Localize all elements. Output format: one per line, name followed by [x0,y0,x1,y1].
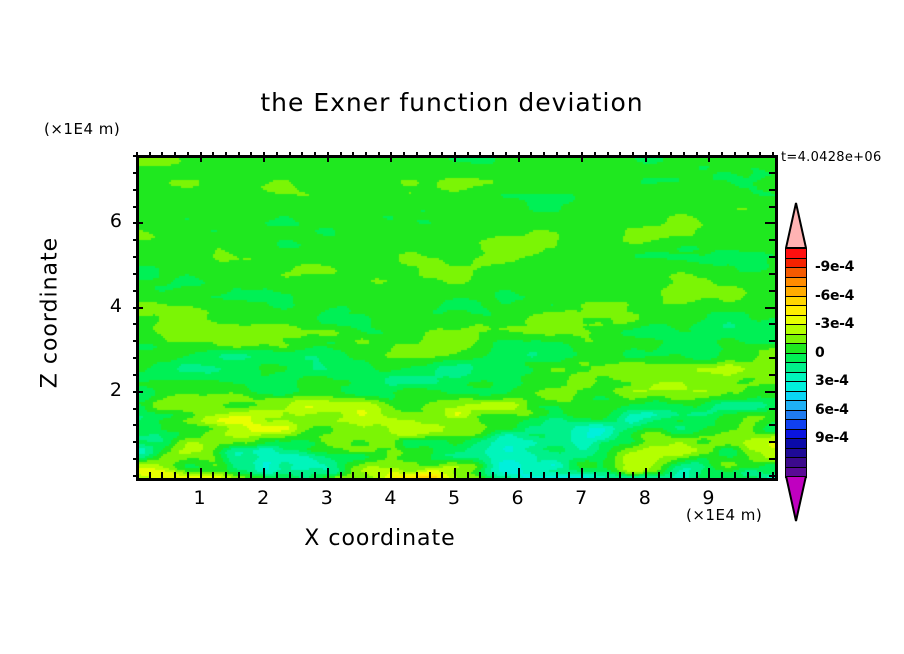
x-axis-tick-label: 9 [688,487,728,509]
x-axis-tick-label: 3 [307,487,347,509]
axis-label-layer: 123456789246 [0,0,904,654]
colorbar-tick-label: 6e-4 [815,402,849,418]
colorbar: 9e-46e-43e-40-3e-4-6e-4-9e-4 [781,202,815,522]
colorbar-cap-top [785,202,807,248]
y-axis-tick-label: 6 [82,210,122,232]
colorbar-tick-label: 3e-4 [815,373,849,389]
x-axis-tick-label: 7 [561,487,601,509]
x-axis-tick-label: 4 [370,487,410,509]
y-axis-tick-label: 2 [82,379,122,401]
colorbar-tick-label: -6e-4 [815,288,854,304]
x-axis-tick-label: 1 [180,487,220,509]
x-axis-tick-label: 2 [243,487,283,509]
y-axis-tick-label: 4 [82,295,122,317]
x-axis-tick-label: 5 [434,487,474,509]
x-axis-tick-label: 6 [498,487,538,509]
colorbar-tick-label: 0 [815,345,824,361]
colorbar-tick-label: 9e-4 [815,430,849,446]
x-axis-tick-label: 8 [625,487,665,509]
colorbar-tick-label: -9e-4 [815,259,854,275]
colorbar-cap-bottom [785,476,807,522]
colorbar-tick-label: -3e-4 [815,316,854,332]
